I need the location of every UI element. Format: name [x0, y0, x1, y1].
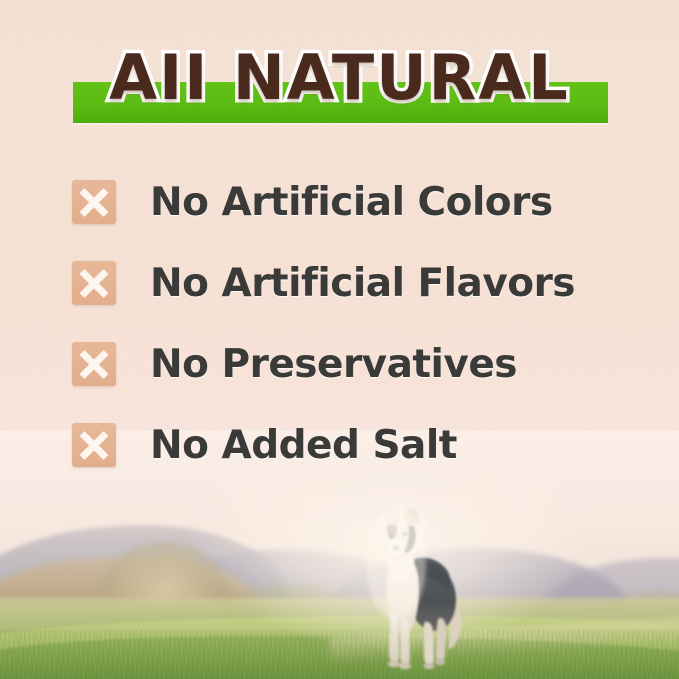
feature-label: No Preservatives [150, 342, 517, 387]
page-title: AII NATURAL [0, 47, 679, 109]
feature-label: No Artificial Flavors [150, 261, 575, 306]
grass-texture [0, 630, 679, 679]
list-item: No Preservatives [72, 334, 632, 394]
x-mark-icon [72, 342, 116, 386]
feature-label: No Added Salt [150, 423, 457, 468]
all-natural-product-poster: AII NATURAL No Artificial Colors No Arti… [0, 0, 679, 679]
list-item: No Artificial Colors [72, 172, 632, 232]
list-item: No Artificial Flavors [72, 253, 632, 313]
feature-label: No Artificial Colors [150, 180, 553, 225]
feature-list: No Artificial Colors No Artificial Flavo… [72, 172, 632, 496]
list-item: No Added Salt [72, 415, 632, 475]
x-mark-icon [72, 180, 116, 224]
x-mark-icon [72, 261, 116, 305]
border-collie-dog [352, 504, 477, 676]
x-mark-icon [72, 423, 116, 467]
